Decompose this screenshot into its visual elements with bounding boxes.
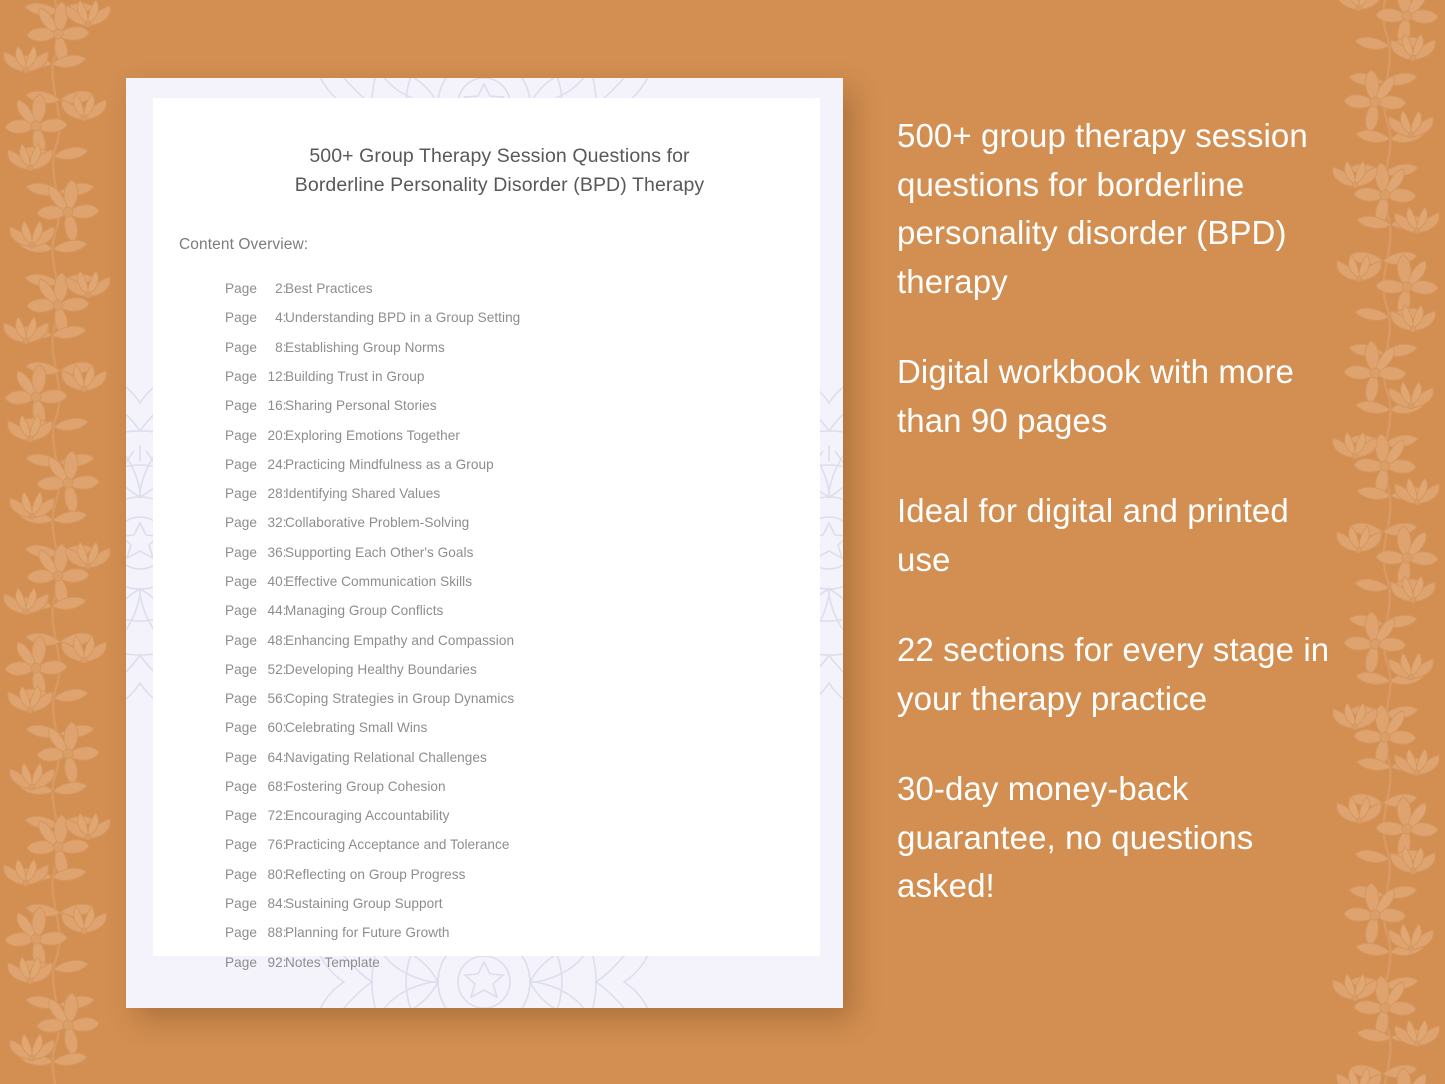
toc-entry: Page 84:Sustaining Group Support [225,889,774,918]
toc-entry: Page 88:Planning for Future Growth [225,918,774,947]
toc-entry: Page 44:Managing Group Conflicts [225,596,774,625]
workbook-page: 500+ Group Therapy Session Questions for… [153,98,820,956]
toc-entry-page: Page 36: [225,544,285,561]
toc-entry-page-number: 2 [261,280,283,297]
toc-entry-page-number: 76 [261,836,283,853]
toc-entry: Page 28:Identifying Shared Values [225,479,774,508]
toc-entry-title: Supporting Each Other's Goals [285,544,774,561]
toc-entry-title: Reflecting on Group Progress [285,866,774,883]
toc-entry-title: Celebrating Small Wins [285,719,774,736]
toc-entry-page-number: 44 [261,602,283,619]
toc-entry-page-number: 88 [261,924,283,941]
toc-entry: Page 76:Practicing Acceptance and Tolera… [225,830,774,859]
toc-entry-page: Page 56: [225,690,285,707]
toc-entry-page: Page 16: [225,397,285,414]
toc-entry-page: Page 12: [225,368,285,385]
toc-entry: Page 12:Building Trust in Group [225,362,774,391]
table-of-contents: Page 2:Best PracticesPage 4:Understandin… [225,274,774,977]
toc-entry: Page 56:Coping Strategies in Group Dynam… [225,684,774,713]
promo-feature-item: 22 sections for every stage in your ther… [897,626,1337,723]
toc-entry-title: Fostering Group Cohesion [285,778,774,795]
toc-entry-page-number: 16 [261,397,283,414]
toc-entry: Page 40:Effective Communication Skills [225,567,774,596]
toc-entry-page: Page 44: [225,602,285,619]
toc-entry-page: Page 88: [225,924,285,941]
toc-entry-title: Best Practices [285,280,774,297]
toc-entry-page: Page 24: [225,456,285,473]
toc-entry-title: Effective Communication Skills [285,573,774,590]
toc-entry-page: Page 72: [225,807,285,824]
toc-entry: Page 20:Exploring Emotions Together [225,420,774,449]
toc-entry-title: Establishing Group Norms [285,339,774,356]
toc-entry-page: Page 80: [225,866,285,883]
toc-entry-page: Page 92: [225,954,285,971]
toc-entry-page-number: 8 [261,339,283,356]
toc-entry-title: Coping Strategies in Group Dynamics [285,690,774,707]
promo-feature-item: 30-day money-back guarantee, no question… [897,765,1337,911]
toc-entry-page: Page 32: [225,514,285,531]
promo-feature-list: 500+ group therapy session questions for… [897,112,1337,911]
toc-entry: Page 92:Notes Template [225,947,774,976]
toc-entry-page-number: 4 [261,309,283,326]
toc-entry-title: Navigating Relational Challenges [285,749,774,766]
toc-entry-title: Enhancing Empathy and Compassion [285,632,774,649]
toc-entry: Page 16:Sharing Personal Stories [225,391,774,420]
toc-entry-page-number: 40 [261,573,283,590]
toc-entry-title: Practicing Acceptance and Tolerance [285,836,774,853]
toc-entry-title: Exploring Emotions Together [285,427,774,444]
toc-entry-page-number: 64 [261,749,283,766]
toc-entry-title: Collaborative Problem-Solving [285,514,774,531]
toc-entry: Page 60:Celebrating Small Wins [225,713,774,742]
toc-entry: Page 72:Encouraging Accountability [225,801,774,830]
content-overview-label: Content Overview: [179,236,774,254]
toc-entry-page-number: 28 [261,485,283,502]
floral-vine-border-right [1327,0,1445,1084]
toc-entry-page-number: 36 [261,544,283,561]
toc-entry-page: Page 64: [225,749,285,766]
toc-entry: Page 4:Understanding BPD in a Group Sett… [225,303,774,332]
toc-entry-title: Developing Healthy Boundaries [285,661,774,678]
toc-entry-page: Page 40: [225,573,285,590]
toc-entry: Page 68:Fostering Group Cohesion [225,772,774,801]
toc-entry-page: Page 28: [225,485,285,502]
toc-entry-page-number: 72 [261,807,283,824]
toc-entry-page: Page 52: [225,661,285,678]
toc-entry-title: Planning for Future Growth [285,924,774,941]
floral-vine-border-left [0,0,116,1084]
toc-entry-page: Page 68: [225,778,285,795]
toc-entry-page: Page 2: [225,280,285,297]
toc-entry-title: Understanding BPD in a Group Setting [285,309,774,326]
toc-entry: Page 2:Best Practices [225,274,774,303]
toc-entry-page-number: 32 [261,514,283,531]
toc-entry-page: Page 84: [225,895,285,912]
toc-entry: Page 8:Establishing Group Norms [225,333,774,362]
toc-entry: Page 36:Supporting Each Other's Goals [225,538,774,567]
page-title-line-2: Borderline Personality Disorder (BPD) Th… [233,171,766,200]
toc-entry-page-number: 92 [261,954,283,971]
toc-entry-page-number: 84 [261,895,283,912]
toc-entry-page-number: 68 [261,778,283,795]
toc-entry-title: Building Trust in Group [285,368,774,385]
toc-entry-page-number: 24 [261,456,283,473]
toc-entry-title: Notes Template [285,954,774,971]
page-title: 500+ Group Therapy Session Questions for… [225,142,774,200]
toc-entry-title: Practicing Mindfulness as a Group [285,456,774,473]
workbook-preview-card: 500+ Group Therapy Session Questions for… [126,78,843,1008]
toc-entry: Page 52:Developing Healthy Boundaries [225,655,774,684]
toc-entry-title: Sustaining Group Support [285,895,774,912]
toc-entry-page-number: 80 [261,866,283,883]
toc-entry-page-number: 56 [261,690,283,707]
toc-entry-page-number: 12 [261,368,283,385]
toc-entry-title: Sharing Personal Stories [285,397,774,414]
toc-entry-page-number: 20 [261,427,283,444]
toc-entry: Page 48:Enhancing Empathy and Compassion [225,625,774,654]
toc-entry-page: Page 60: [225,719,285,736]
toc-entry-page: Page 8: [225,339,285,356]
toc-entry-page-number: 48 [261,632,283,649]
promo-feature-item: Digital workbook with more than 90 pages [897,348,1337,445]
toc-entry-page: Page 76: [225,836,285,853]
toc-entry: Page 80:Reflecting on Group Progress [225,860,774,889]
page-title-line-1: 500+ Group Therapy Session Questions for [233,142,766,171]
toc-entry: Page 64:Navigating Relational Challenges [225,743,774,772]
toc-entry-page-number: 52 [261,661,283,678]
toc-entry-title: Identifying Shared Values [285,485,774,502]
toc-entry-title: Encouraging Accountability [285,807,774,824]
toc-entry-page: Page 20: [225,427,285,444]
toc-entry-page: Page 4: [225,309,285,326]
toc-entry-title: Managing Group Conflicts [285,602,774,619]
promo-feature-item: Ideal for digital and printed use [897,487,1337,584]
toc-entry-page-number: 60 [261,719,283,736]
promo-feature-item: 500+ group therapy session questions for… [897,112,1337,306]
toc-entry: Page 32:Collaborative Problem-Solving [225,508,774,537]
toc-entry: Page 24:Practicing Mindfulness as a Grou… [225,450,774,479]
toc-entry-page: Page 48: [225,632,285,649]
